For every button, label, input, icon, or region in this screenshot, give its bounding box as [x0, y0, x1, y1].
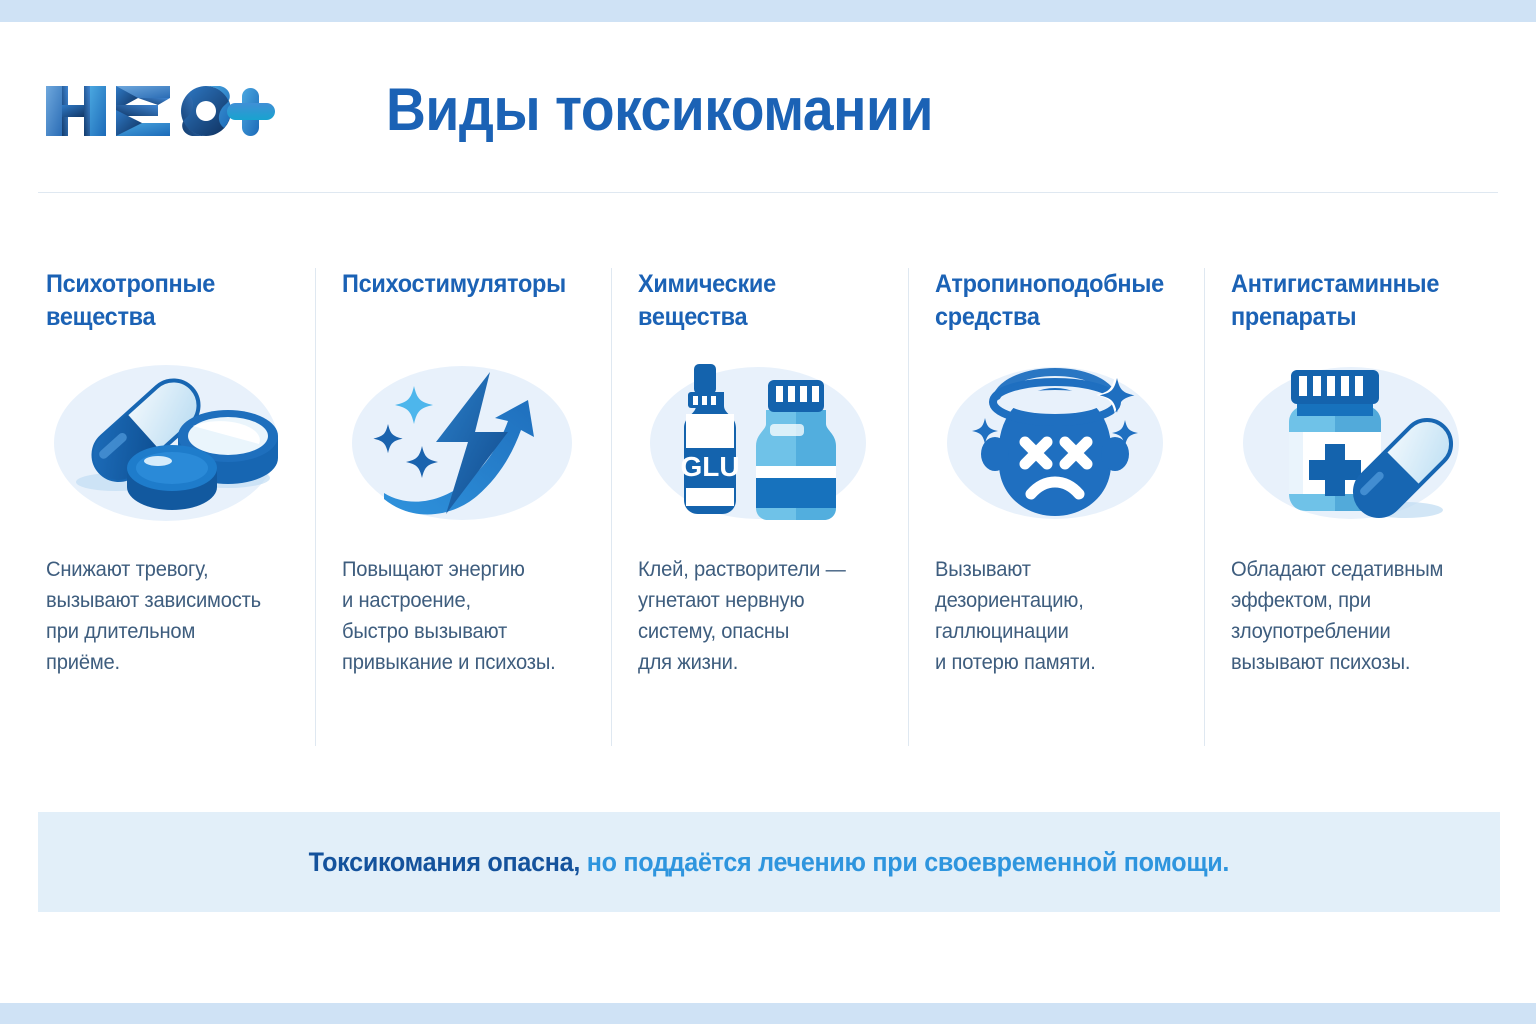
footer-text: Токсикомания опасна, но поддаётся лечени… [309, 847, 1229, 878]
header-divider [38, 192, 1498, 193]
lightning-bolt-arrow-icon [342, 358, 593, 528]
card-title: Психостимуляторы [342, 268, 578, 336]
footer-callout: Токсикомания опасна, но поддаётся лечени… [38, 812, 1500, 912]
bottom-accent-band [0, 1003, 1536, 1024]
card-description: Повыщают энергию и настроение, быстро вы… [342, 554, 583, 678]
card-title: Атропиноподобные средства [935, 268, 1171, 336]
page-title: Виды токсикомании [386, 80, 933, 140]
top-accent-band [0, 0, 1536, 22]
card-description: Вызывают дезориентацию, галлюцинации и п… [935, 554, 1176, 678]
card-title: Химические вещества [638, 268, 874, 336]
card-antihistamines: Антигистаминные препараты [1204, 268, 1500, 746]
neo-plus-logo [46, 80, 276, 142]
medicine-bottle-capsule-icon [1231, 358, 1482, 528]
card-description: Клей, растворители — угнетают нервную си… [638, 554, 879, 678]
card-atropine-like: Атропиноподобные средства [908, 268, 1204, 746]
card-title: Антигистаминные препараты [1231, 268, 1467, 336]
card-psychostimulants: Психостимуляторы [315, 268, 611, 746]
card-psychotropic: Психотропные вещества [38, 268, 315, 746]
glue-label: GLU [681, 451, 740, 482]
footer-light-text: но поддаётся лечению при своевременной п… [580, 847, 1229, 877]
category-cards: Психотропные вещества [38, 268, 1500, 746]
dizzy-face-icon [935, 358, 1186, 528]
card-title: Психотропные вещества [46, 268, 282, 336]
pills-capsule-icon [46, 358, 297, 528]
card-description: Снижают тревогу, вызывают зависимость пр… [46, 554, 287, 678]
infographic-page: Виды токсикомании Психотропные вещества [0, 0, 1536, 1024]
header: Виды токсикомании [0, 22, 1536, 190]
card-chemical-substances: Химические вещества [611, 268, 907, 746]
card-description: Обладают седативным эффектом, при злоупо… [1231, 554, 1472, 678]
footer-strong-text: Токсикомания опасна, [309, 847, 580, 877]
glue-solvent-bottles-icon: GLU [638, 358, 889, 528]
